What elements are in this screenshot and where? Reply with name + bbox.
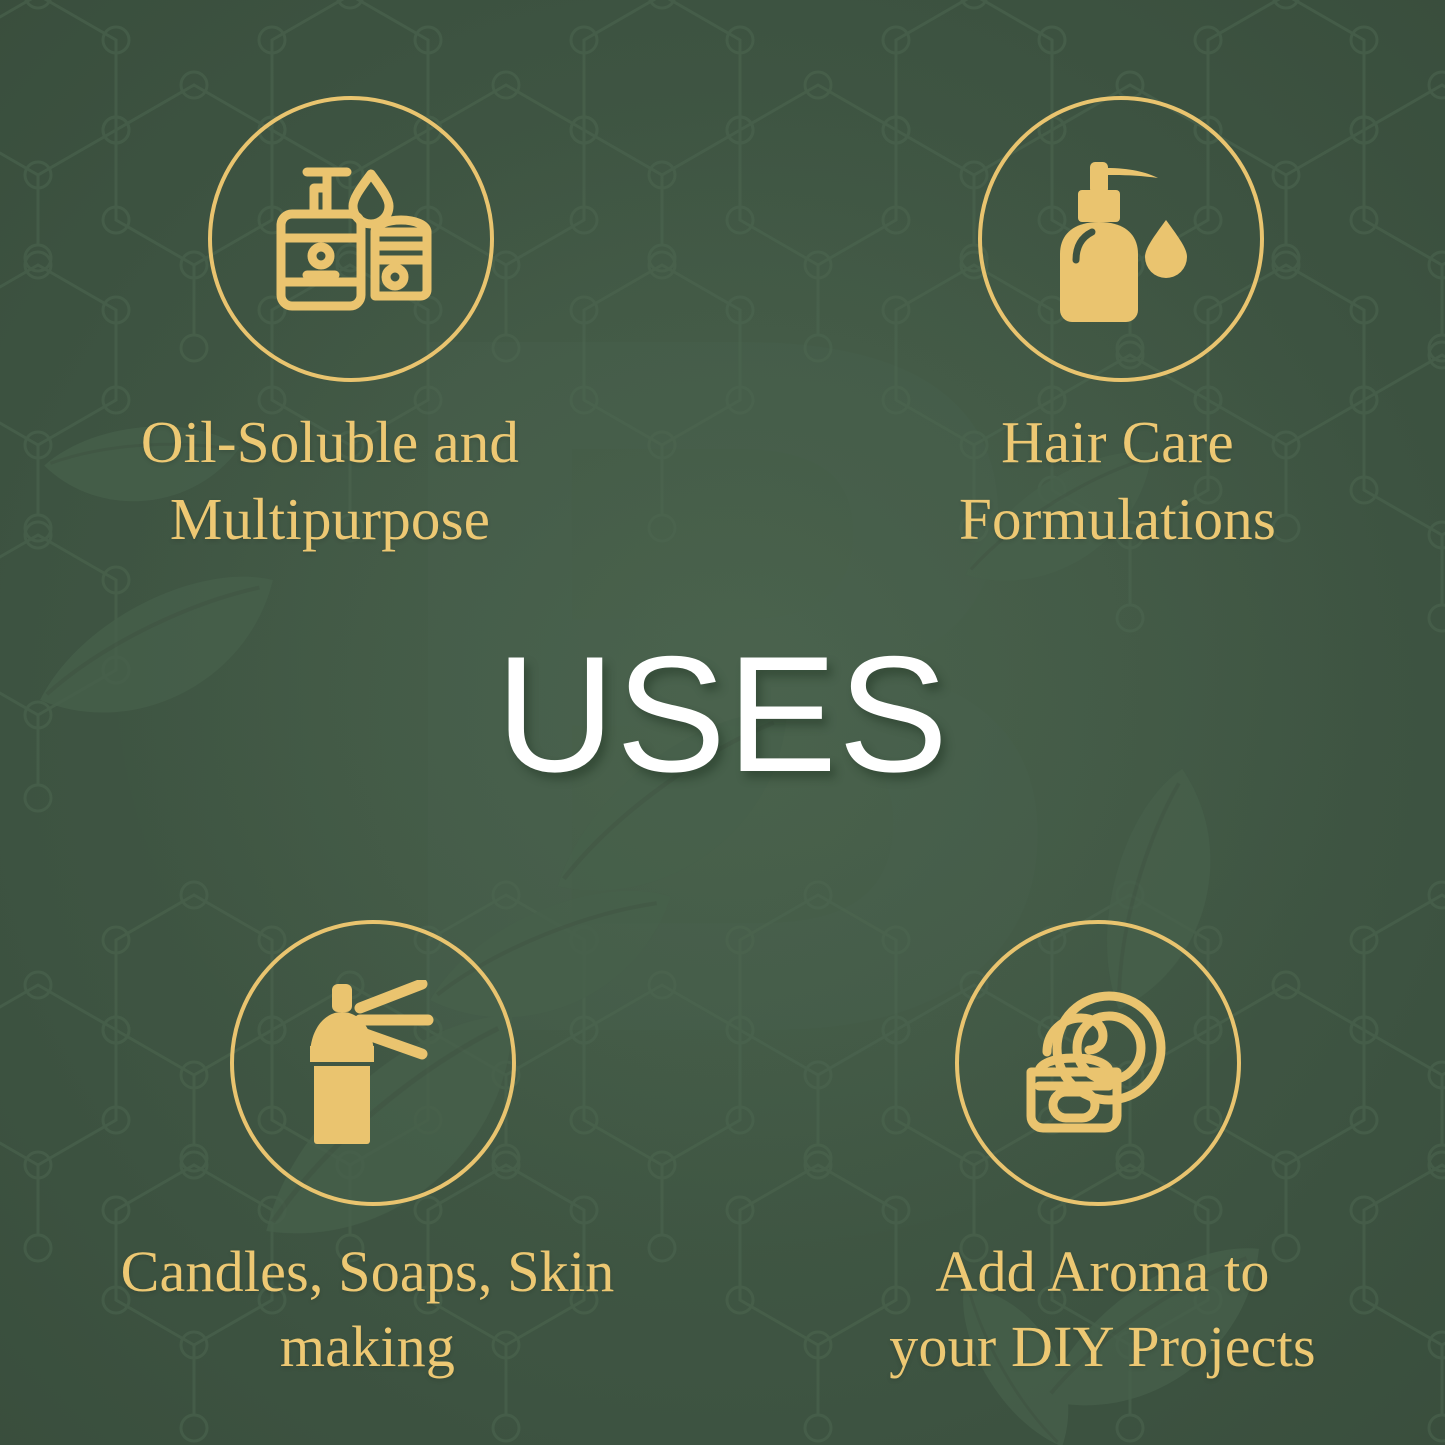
caption-candles-soaps: Candles, Soaps, Skin making (121, 1234, 615, 1385)
use-item-diy-aroma: Add Aroma to your DIY Projects (760, 920, 1445, 1385)
caption-diy-aroma: Add Aroma to your DIY Projects (889, 1234, 1316, 1385)
caption-hair-care: Hair Care Formulations (959, 404, 1276, 557)
icon-badge-candles-soaps (230, 920, 516, 1206)
use-item-candles-soaps: Candles, Soaps, Skin making (10, 920, 725, 1385)
caption-oil-soluble: Oil-Soluble and Multipurpose (141, 404, 519, 557)
lotion-bottle-and-jar-icon (267, 160, 435, 318)
icon-badge-hair-care (978, 96, 1264, 382)
cream-jar-icon (1017, 988, 1179, 1138)
spray-can-icon (298, 980, 448, 1146)
icon-badge-oil-soluble (208, 96, 494, 382)
use-item-hair-care: Hair Care Formulations (790, 96, 1445, 557)
pump-bottle-with-droplet-icon (1038, 150, 1204, 328)
page-title: USES (0, 632, 1445, 797)
poster-canvas: B (0, 0, 1445, 1445)
use-item-oil-soluble: Oil-Soluble and Multipurpose (0, 96, 660, 557)
icon-badge-diy-aroma (955, 920, 1241, 1206)
